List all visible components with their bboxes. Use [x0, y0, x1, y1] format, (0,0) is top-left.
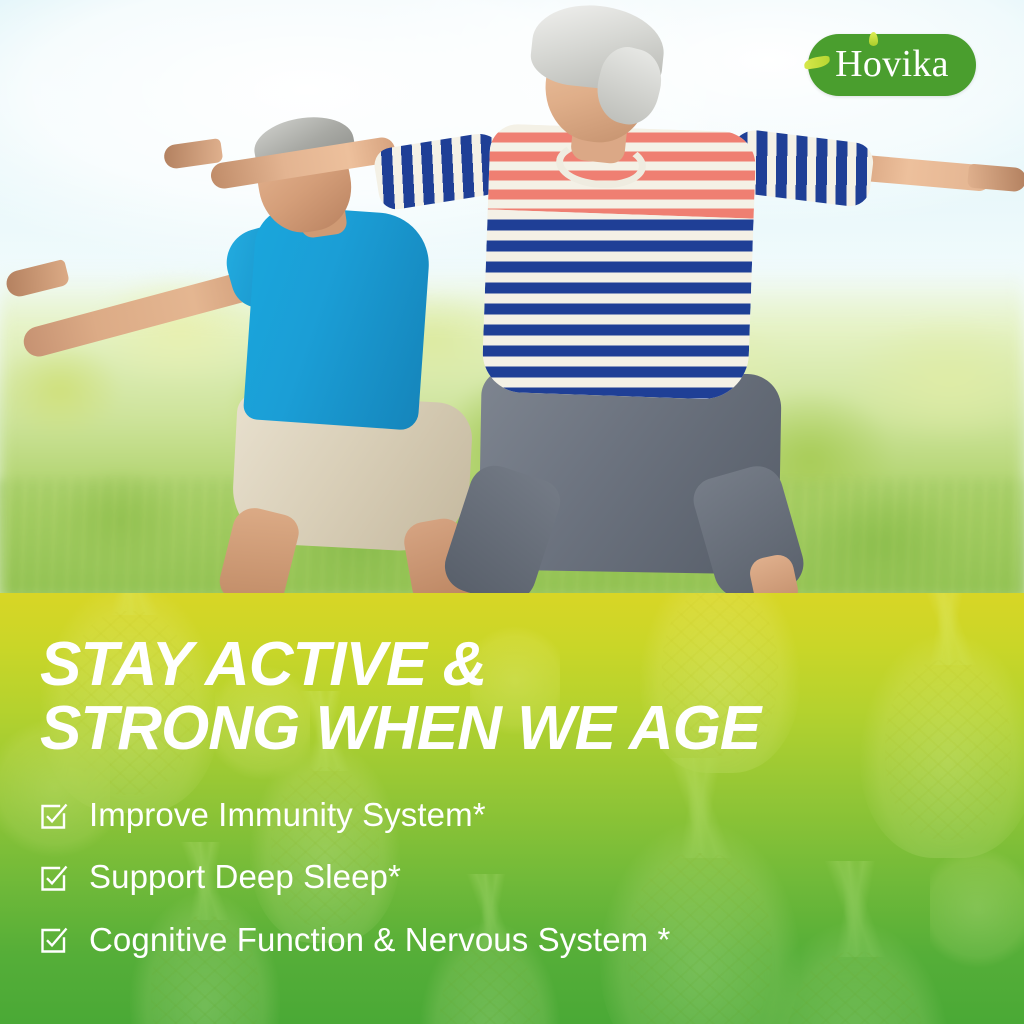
list-item: Improve Immunity System* — [40, 797, 990, 833]
shirt-navy-stripes — [481, 209, 753, 400]
list-item: Cognitive Function & Nervous System * — [40, 922, 990, 958]
list-item-label: Cognitive Function & Nervous System * — [89, 922, 670, 958]
brand-logo[interactable]: Hovika — [808, 34, 976, 96]
checkbox-check-icon — [40, 927, 67, 954]
man-left-leg — [215, 503, 302, 600]
headline: STAY ACTIVE & STRONG WHEN WE AGE — [40, 633, 990, 761]
leaf-dot-icon — [869, 32, 878, 46]
woman-right-hand — [967, 164, 1024, 193]
product-ad-banner: Hovika STAY ACTIVE & STRONG WHEN WE AGE — [0, 0, 1024, 1024]
checkbox-check-icon — [40, 803, 67, 830]
benefits-list: Improve Immunity System* Support Deep Sl… — [40, 797, 990, 984]
list-item: Support Deep Sleep* — [40, 859, 990, 895]
list-item-label: Improve Immunity System* — [89, 797, 486, 833]
brand-logo-text: Hovika — [835, 45, 949, 86]
list-item-label: Support Deep Sleep* — [89, 859, 401, 895]
man-front-hand — [4, 259, 70, 299]
promo-banner: STAY ACTIVE & STRONG WHEN WE AGE Improve… — [0, 593, 1024, 1024]
checkbox-check-icon — [40, 865, 67, 892]
